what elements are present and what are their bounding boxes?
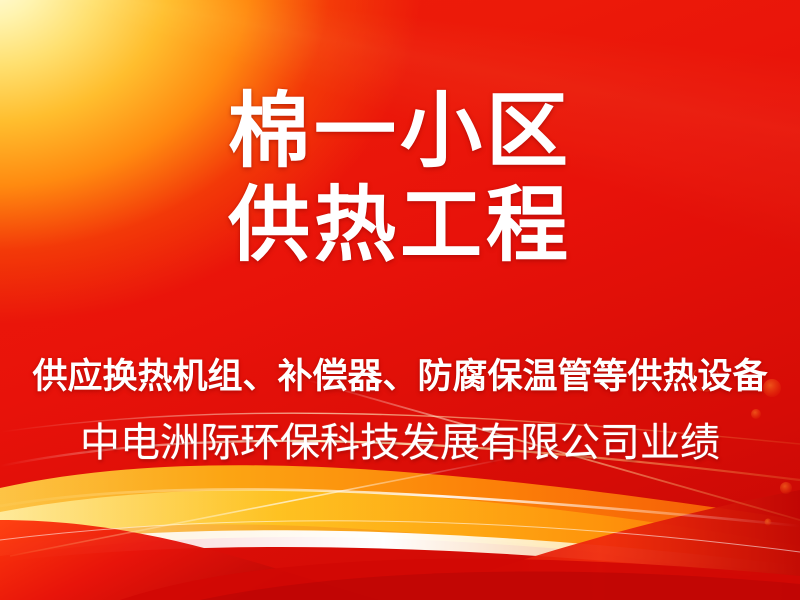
- promotional-banner: 棉一小区 供热工程 供应换热机组、补偿器、防腐保温管等供热设备 中电洲际环保科技…: [0, 0, 800, 600]
- subtitle-company: 中电洲际环保科技发展有限公司业绩: [0, 410, 800, 468]
- banner-subtitles: 供应换热机组、补偿器、防腐保温管等供热设备 中电洲际环保科技发展有限公司业绩: [0, 348, 800, 468]
- banner-content: 棉一小区 供热工程 供应换热机组、补偿器、防腐保温管等供热设备 中电洲际环保科技…: [0, 0, 800, 600]
- banner-title: 棉一小区 供热工程: [228, 92, 572, 267]
- title-line-1: 棉一小区: [228, 92, 572, 172]
- title-line-2: 供热工程: [228, 186, 572, 266]
- subtitle-products: 供应换热机组、补偿器、防腐保温管等供热设备: [0, 348, 800, 399]
